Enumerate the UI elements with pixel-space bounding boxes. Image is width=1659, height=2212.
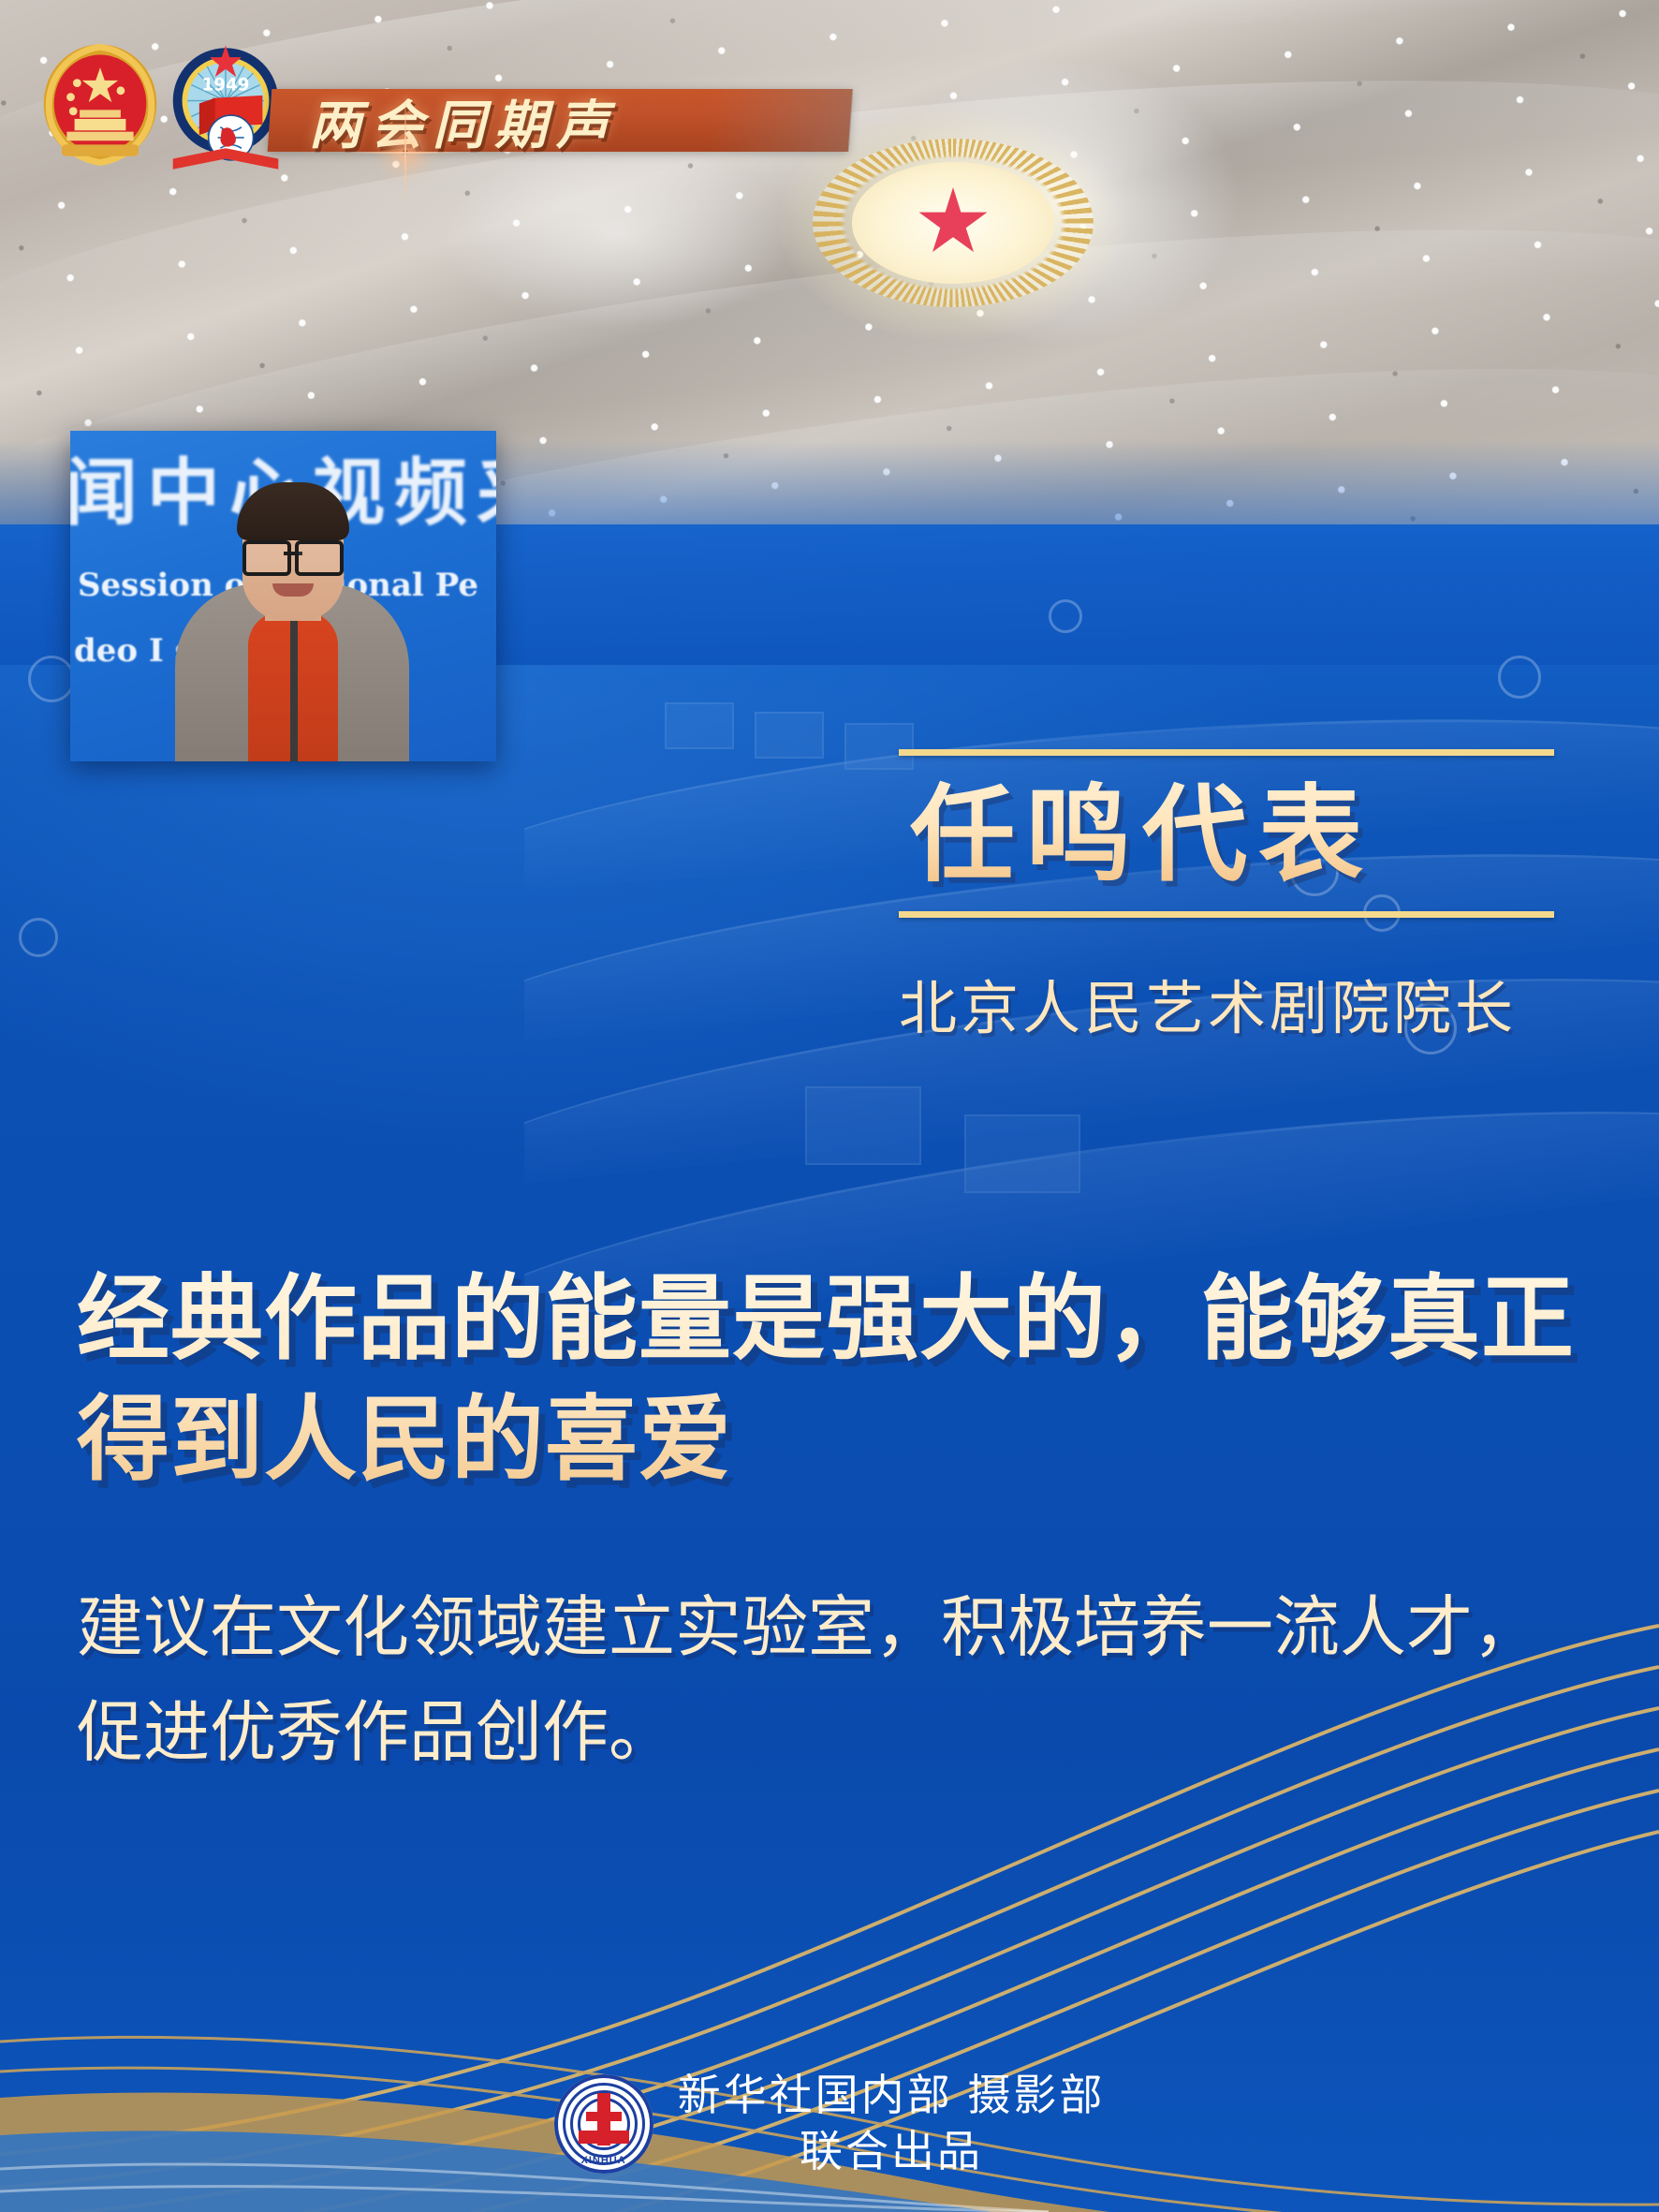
ceiling-star-rosette (813, 139, 1094, 307)
banner-title: 两会同期声 (309, 84, 796, 157)
headline-quote: 经典作品的能量是强大的，能够真正得到人民的喜爱 (77, 1260, 1603, 1500)
footer: XINHUA 新华社国内部 摄影部 联合出品 (0, 2068, 1659, 2180)
footer-line-1: 新华社国内部 摄影部 (678, 2068, 1106, 2124)
speaker-name: 任鸣代表 (899, 756, 1582, 911)
gold-rule-top (899, 749, 1554, 756)
bokeh-circle (1049, 599, 1082, 633)
subject-figure (175, 480, 409, 761)
xinhua-logo-text: XINHUA (554, 2155, 653, 2166)
bokeh-circle (1498, 656, 1541, 699)
description-text: 建议在文化领域建立实验室，积极培养一流人才，促进优秀作品创作。 (77, 1575, 1584, 1785)
lens-flare (403, 150, 408, 155)
bokeh-circle (28, 656, 75, 702)
xinhua-logo-icon: XINHUA (554, 2074, 653, 2174)
svg-text:1949: 1949 (202, 75, 250, 95)
national-emblem-prc-icon (36, 39, 165, 178)
eyeglasses-icon (242, 540, 344, 568)
speaker-name-block: 任鸣代表 北京人民艺术剧院院长 (899, 749, 1582, 1045)
gold-rule-bottom (899, 911, 1554, 918)
footer-credits: 新华社国内部 摄影部 联合出品 (678, 2068, 1106, 2180)
poster-root: 1949 两会同期声 闻中心视频采 Session of National Pe… (0, 0, 1659, 2212)
footer-line-2: 联合出品 (678, 2124, 1106, 2180)
bokeh-circle (19, 918, 58, 957)
portrait-photo: 闻中心视频采 Session of National Pe deo I ss ( (70, 431, 496, 761)
speaker-role: 北京人民艺术剧院院长 (899, 961, 1582, 1045)
